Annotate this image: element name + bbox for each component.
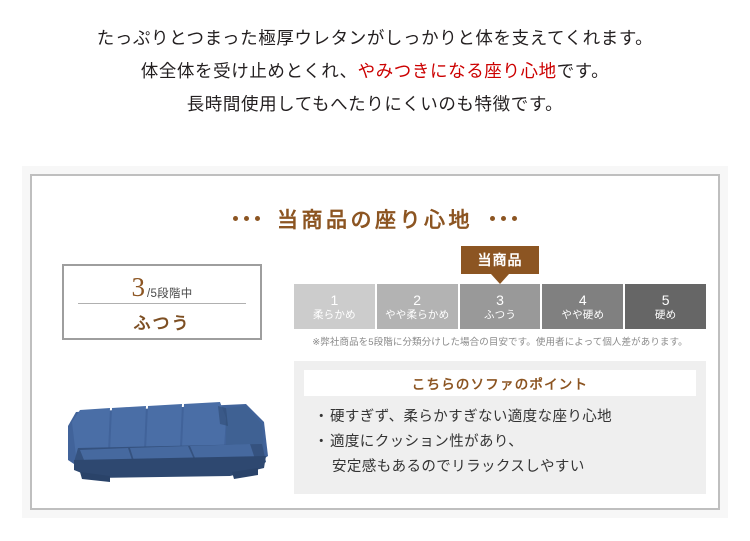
point-text-2: 適度にクッション性があり、 [330, 434, 523, 450]
scale-segment-5[interactable]: 5 硬め [625, 284, 706, 329]
intro-text-block: たっぷりとつまった極厚ウレタンがしっかりと体を支えてくれます。 体全体を受け止め… [0, 0, 750, 121]
comfort-card-outer: 当商品の座り心地 3 /5段階中 ふつう [22, 166, 728, 518]
comfort-card: 当商品の座り心地 3 /5段階中 ふつう [30, 174, 720, 510]
scale-segment-5-label: 硬め [655, 308, 676, 322]
rating-box: 3 /5段階中 ふつう [62, 264, 262, 340]
rating-value-row: 3 /5段階中 [64, 266, 260, 303]
scale-segment-4[interactable]: 4 やや硬め [542, 284, 623, 329]
list-item: 適度にクッション性があり、 安定感もあるのでリラックスしやすい [316, 430, 706, 480]
rating-unit: /5段階中 [147, 287, 193, 301]
current-product-badge: 当商品 [461, 246, 539, 274]
scale-segment-1-label: 柔らかめ [313, 308, 356, 322]
intro-line-1: たっぷりとつまった極厚ウレタンがしっかりと体を支えてくれます。 [0, 22, 750, 55]
point-text-1: 硬すぎず、柔らかすぎない適度な座り心地 [330, 409, 612, 425]
comfort-scale-column: 当商品 1 柔らかめ 2 やや柔らかめ 3 ふつう 4 やや硬め [294, 246, 706, 494]
points-panel: こちらのソファのポイント 硬すぎず、柔らかすぎない適度な座り心地 適度にクッショ… [294, 361, 706, 494]
firmness-scale: 1 柔らかめ 2 やや柔らかめ 3 ふつう 4 やや硬め 5 硬め [294, 284, 706, 329]
decorative-dots-right-icon [487, 210, 520, 228]
intro-line-2: 体全体を受け止めとくれ、やみつきになる座り心地です。 [0, 55, 750, 88]
scale-disclaimer: ※弊社商品を5段階に分類分けした場合の目安です。使用者によって個人差があります。 [294, 336, 706, 350]
scale-segment-3-number: 3 [496, 292, 504, 308]
decorative-dots-left-icon [230, 210, 263, 228]
scale-segment-4-number: 4 [579, 292, 587, 308]
scale-segment-4-label: やや硬め [561, 308, 604, 322]
scale-segment-2[interactable]: 2 やや柔らかめ [377, 284, 458, 329]
intro-line-2-after: です。 [557, 61, 610, 81]
intro-line-3: 長時間使用してもへたりにくいのも特徴です。 [0, 88, 750, 121]
points-panel-title: こちらのソファのポイント [412, 373, 588, 393]
blue-floor-sofa-icon [50, 382, 282, 502]
list-item: 硬すぎず、柔らかすぎない適度な座り心地 [316, 405, 706, 430]
scale-segment-1[interactable]: 1 柔らかめ [294, 284, 375, 329]
scale-segment-5-number: 5 [662, 292, 670, 308]
rating-label-row: ふつう [64, 304, 260, 338]
card-title-row: 当商品の座り心地 [32, 204, 718, 234]
intro-line-2-before: 体全体を受け止めとくれ、 [141, 61, 358, 81]
page-title: 当商品の座り心地 [277, 204, 473, 234]
point-text-2-continuation: 安定感もあるのでリラックスしやすい [330, 455, 706, 480]
product-image [50, 382, 282, 502]
scale-segment-2-number: 2 [413, 292, 421, 308]
scale-segment-3[interactable]: 3 ふつう [460, 284, 541, 329]
points-panel-header: こちらのソファのポイント [304, 370, 696, 396]
rating-label: ふつう [134, 309, 191, 334]
intro-line-2-highlight: やみつきになる座り心地 [358, 61, 557, 81]
scale-segment-2-label: やや柔らかめ [385, 308, 449, 322]
current-product-badge-row: 当商品 [294, 246, 706, 284]
scale-segment-3-label: ふつう [484, 308, 516, 322]
badge-pointer-icon [491, 274, 509, 284]
scale-segment-1-number: 1 [331, 292, 339, 308]
points-list: 硬すぎず、柔らかすぎない適度な座り心地 適度にクッション性があり、 安定感もある… [294, 405, 706, 480]
rating-value: 3 [131, 274, 145, 301]
